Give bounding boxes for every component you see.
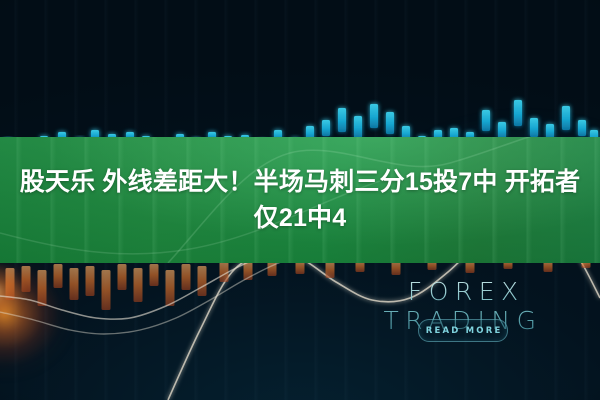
trend-line-lower-secondary	[0, 256, 300, 334]
headline-line-2: 仅21中4	[254, 201, 347, 236]
headline-line-1: 股天乐 外线差距大！半场马刺三分15投7中 开拓者	[20, 165, 581, 200]
read-more-label: READ MORE	[424, 326, 503, 336]
read-more-button[interactable]: READ MORE	[418, 319, 508, 342]
headline-text: 股天乐 外线差距大！半场马刺三分15投7中 开拓者 仅21中4	[0, 137, 600, 263]
headline-banner: 股天乐 外线差距大！半场马刺三分15投7中 开拓者 仅21中4	[0, 137, 600, 263]
forex-trading-banner-image: 股天乐 外线差距大！半场马刺三分15投7中 开拓者 仅21中4 FOREX TR…	[0, 0, 600, 400]
